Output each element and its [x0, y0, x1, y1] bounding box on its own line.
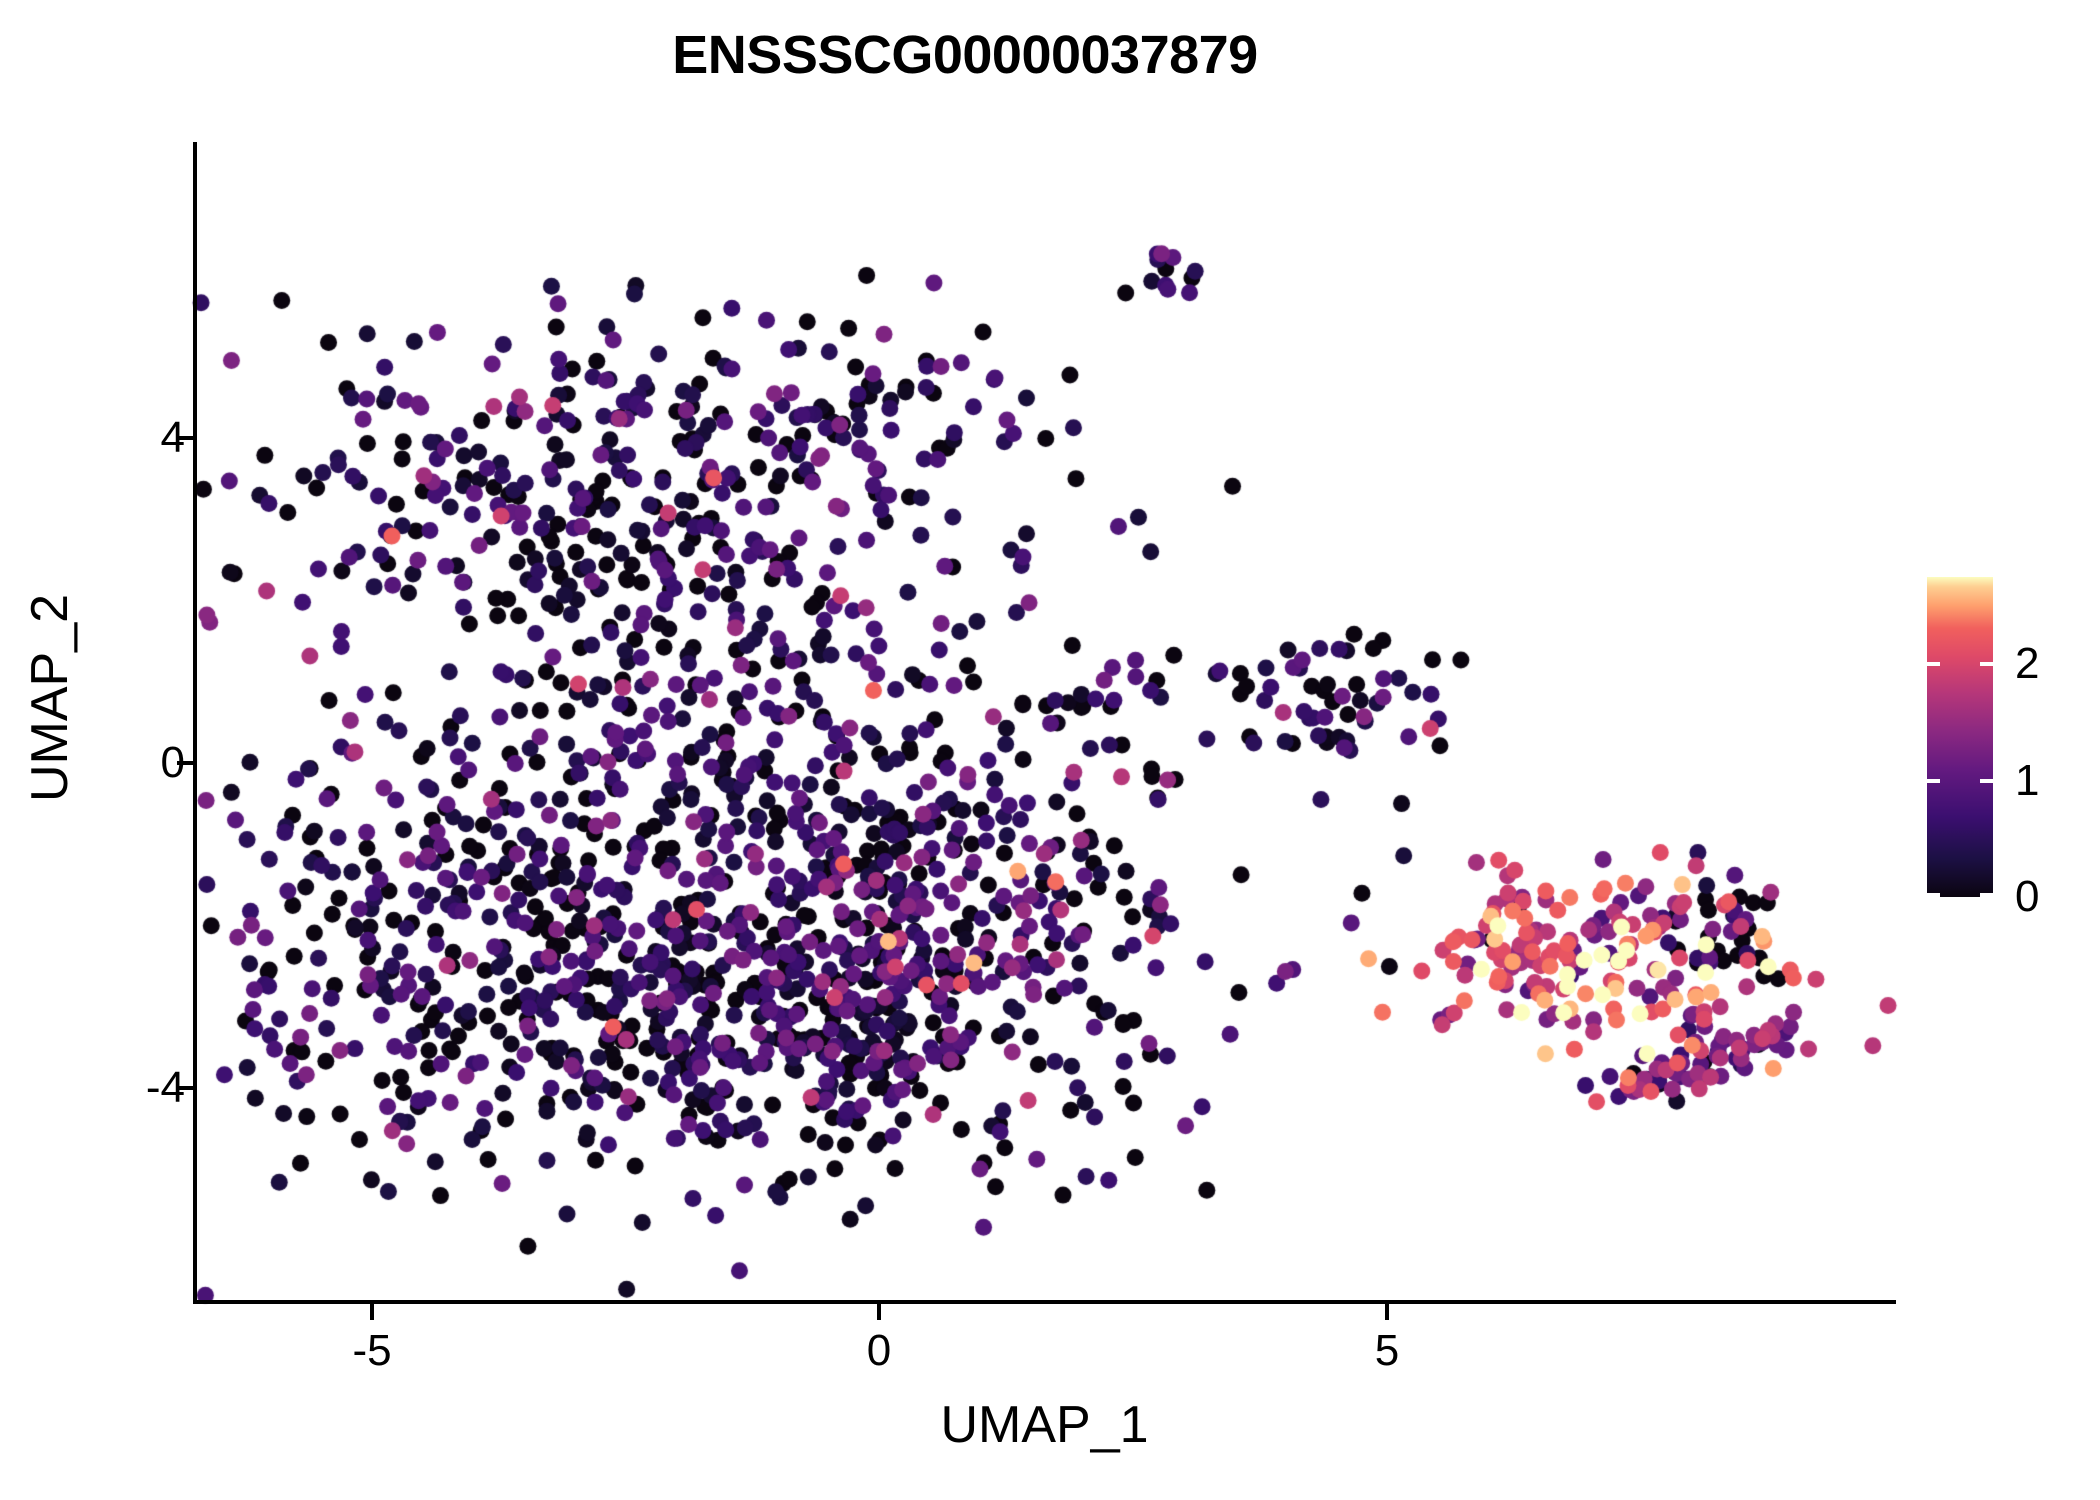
x-axis-line [193, 1300, 1896, 1304]
x-tick-label-neg5: -5 [352, 1326, 391, 1376]
colorbar-tick-1-left [1927, 779, 1940, 783]
colorbar-label-2: 2 [2015, 639, 2039, 689]
y-axis-line [193, 142, 197, 1304]
x-tick-mark-neg5 [370, 1304, 374, 1320]
scatter-plot-canvas [0, 0, 2100, 1500]
colorbar-label-1: 1 [2015, 756, 2039, 806]
y-tick-label-neg4: -4 [146, 1063, 185, 1113]
x-tick-label-0: 0 [867, 1326, 891, 1376]
colorbar-tick-2-left [1927, 662, 1940, 666]
colorbar-label-0: 0 [2015, 872, 2039, 922]
colorbar-gradient [1927, 577, 1993, 897]
colorbar-tick-0-left [1927, 893, 1940, 897]
y-tick-label-0: 0 [161, 738, 185, 788]
colorbar-tick-1-right [1980, 779, 1993, 783]
colorbar-tick-2-right [1980, 662, 1993, 666]
umap-feature-plot: ENSSSCG00000037879 4 0 -4 -5 0 5 UMAP_1 … [0, 0, 2100, 1500]
x-axis-title: UMAP_1 [193, 1395, 1896, 1455]
y-axis-title: UMAP_2 [20, 118, 80, 1278]
colorbar-legend: 2 1 0 [1927, 577, 1993, 897]
x-tick-mark-0 [877, 1304, 881, 1320]
colorbar-tick-0-right [1980, 893, 1993, 897]
x-tick-mark-5 [1385, 1304, 1389, 1320]
x-tick-label-5: 5 [1375, 1326, 1399, 1376]
y-tick-label-4: 4 [161, 413, 185, 463]
